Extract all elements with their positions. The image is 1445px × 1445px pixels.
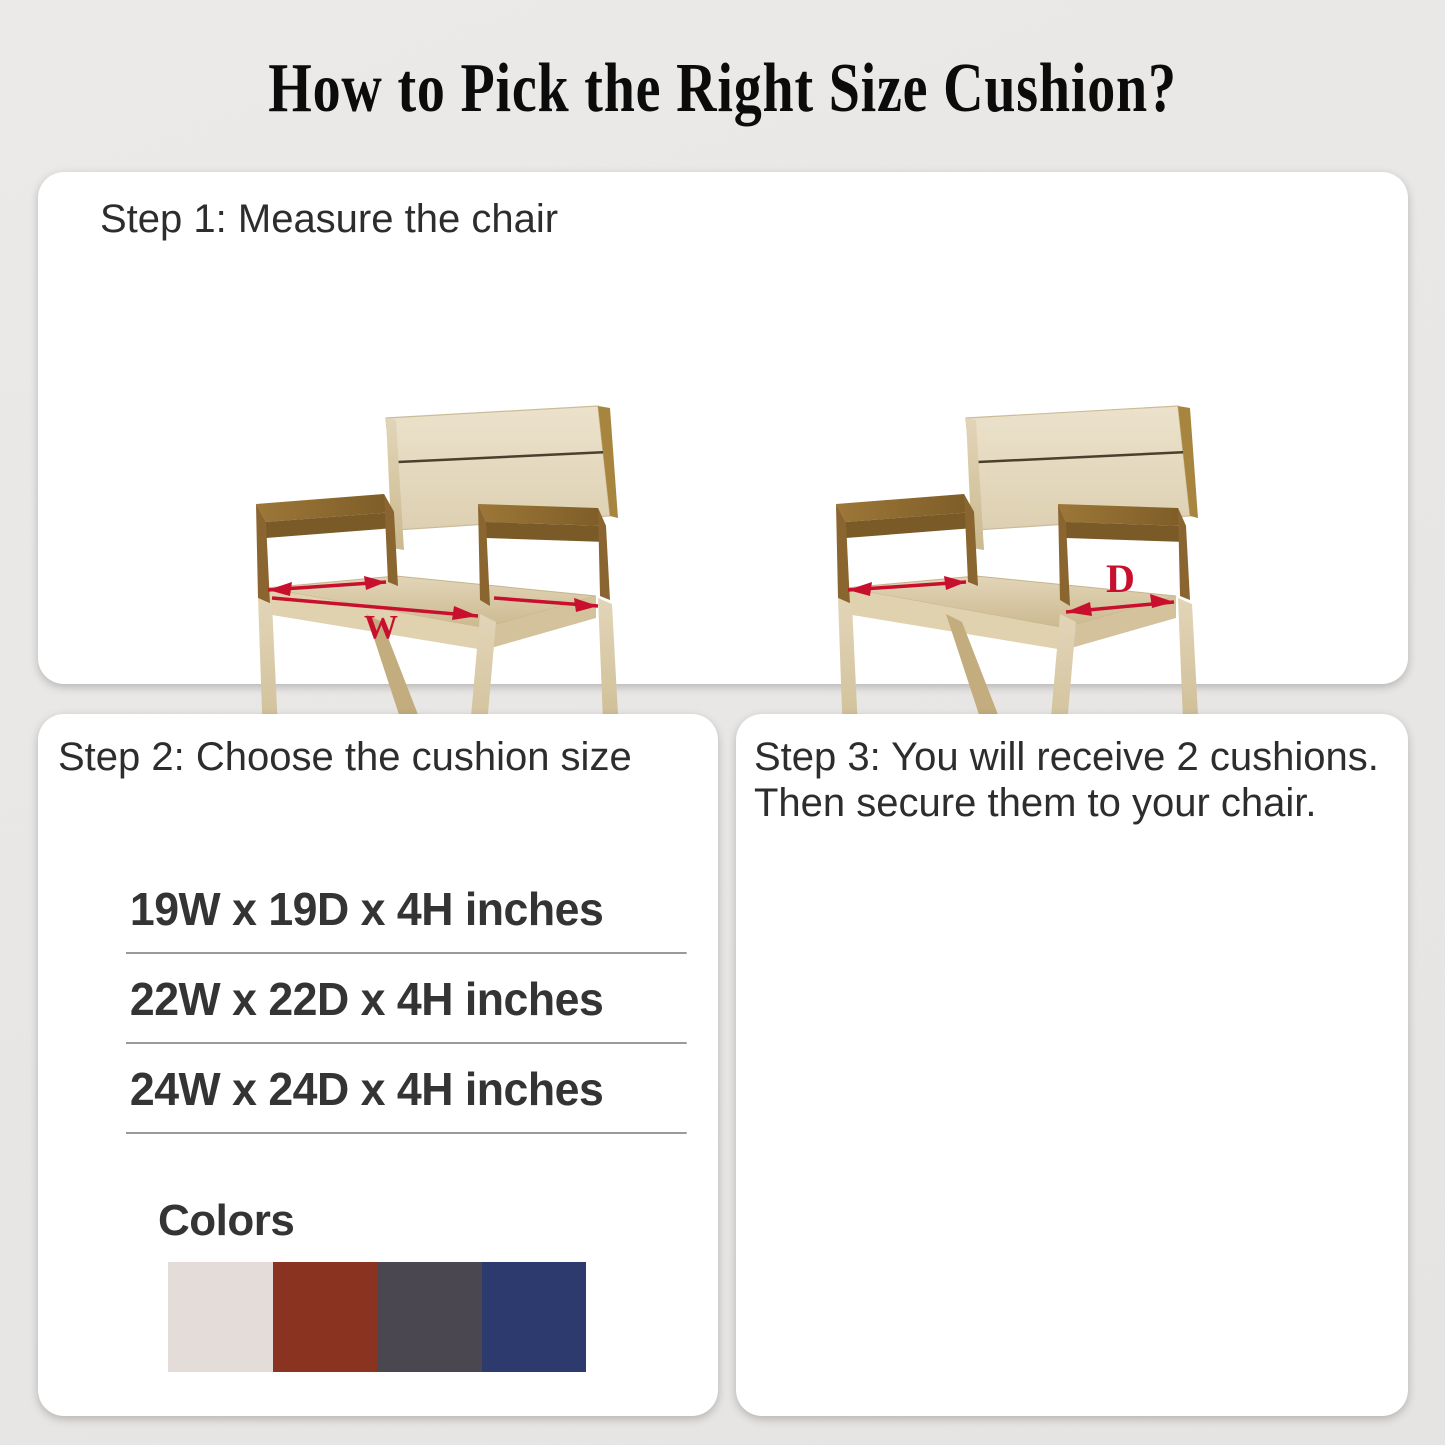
size-option[interactable]: 22W x 22D x 4H inches xyxy=(126,954,687,1044)
color-swatch-cream[interactable] xyxy=(168,1262,273,1372)
size-options-list: 19W x 19D x 4H inches 22W x 22D x 4H inc… xyxy=(126,864,704,1134)
arm-right-back-post xyxy=(598,508,610,600)
step-3-label: Step 3: You will receive 2 cushions. The… xyxy=(754,734,1379,826)
depth-marker-label: D xyxy=(1106,556,1135,601)
infographic-page: How to Pick the Right Size Cushion? Step… xyxy=(0,0,1445,1445)
step-1-label: Step 1: Measure the chair xyxy=(100,196,558,242)
size-option[interactable]: 24W x 24D x 4H inches xyxy=(126,1044,687,1134)
size-option[interactable]: 19W x 19D x 4H inches xyxy=(126,864,687,954)
card-step-1: Step 1: Measure the chair xyxy=(38,172,1408,684)
arm-right-back-post xyxy=(1178,508,1190,600)
color-swatch-slate-gray[interactable] xyxy=(377,1262,482,1372)
page-title: How to Pick the Right Size Cushion? xyxy=(145,54,1301,124)
color-swatch-rust-red[interactable] xyxy=(273,1262,378,1372)
color-swatch-strip xyxy=(168,1262,586,1372)
card-step-2: Step 2: Choose the cushion size 19W x 19… xyxy=(38,714,718,1416)
card-step-3: Step 3: You will receive 2 cushions. The… xyxy=(736,714,1408,1416)
colors-heading: Colors xyxy=(158,1196,294,1246)
color-swatch-navy-blue[interactable] xyxy=(482,1262,587,1372)
step-2-label: Step 2: Choose the cushion size xyxy=(58,734,632,780)
width-marker-label: W xyxy=(364,609,398,646)
